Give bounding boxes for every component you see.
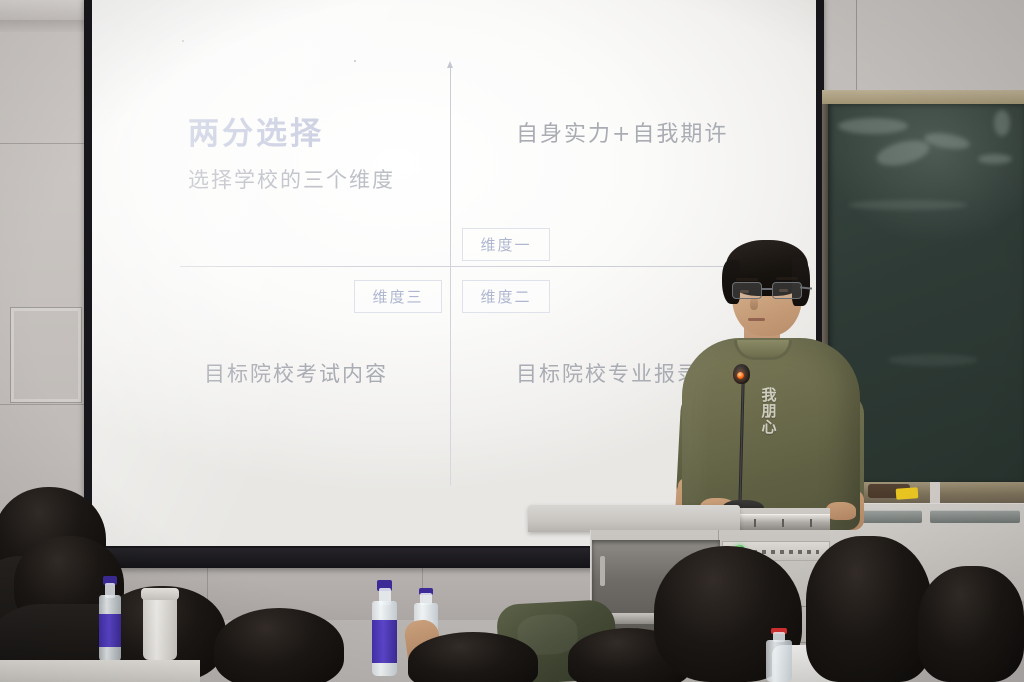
student-long-hair xyxy=(806,536,932,682)
slide-quadrant-bottom-left-text: 目标院校考试内容 xyxy=(204,358,388,388)
presenter-right-hand xyxy=(826,502,856,520)
white-cup xyxy=(143,588,177,660)
presenter-nose xyxy=(750,298,758,310)
slide-speck xyxy=(354,60,356,62)
wall-access-panel xyxy=(10,307,82,403)
lectern-top-surface xyxy=(528,505,740,532)
eyeglasses-lens xyxy=(772,282,802,299)
cup-lid xyxy=(141,588,179,600)
wall-seam xyxy=(856,0,857,100)
chalk-smudge xyxy=(994,110,1010,136)
bottle-label xyxy=(99,614,121,647)
water-bottle xyxy=(372,580,397,676)
slide-dimension-box-two: 维度二 xyxy=(462,280,550,313)
chalk-smudge xyxy=(848,200,968,210)
slide-speck xyxy=(182,40,184,42)
water-bottle xyxy=(766,628,792,682)
chalk-tray-gap xyxy=(930,482,940,504)
eyeglasses-lens xyxy=(732,282,762,299)
classroom-photo-scene: 两分选择 选择学校的三个维度 自身实力+自我期许 目标院校考试内容 目标院校专业… xyxy=(0,0,1024,682)
slide-quadrant-top-right-text: 自身实力+自我期许 xyxy=(516,116,728,148)
rack-tick xyxy=(782,519,784,527)
presenter-shirt-text: 我朋心 xyxy=(754,388,784,436)
chalk-smudge xyxy=(923,130,971,151)
slide-subtitle: 选择学校的三个维度 xyxy=(188,164,395,194)
yellow-chalk-item xyxy=(896,487,919,500)
student-head xyxy=(918,566,1024,682)
rack-tick xyxy=(810,519,812,527)
left-wall xyxy=(0,0,92,560)
presenter-mouth xyxy=(748,318,765,321)
rack-tick xyxy=(754,519,756,527)
eyeglasses-icon xyxy=(732,282,806,300)
slide-dimension-box-three: 维度三 xyxy=(354,280,442,313)
cabinet-handle[interactable] xyxy=(930,510,1020,523)
chalk-smudge xyxy=(978,154,1012,164)
student-head xyxy=(408,632,538,682)
wall-seam xyxy=(0,143,92,144)
presenter-eyebrow xyxy=(776,277,798,280)
desk-surface xyxy=(0,660,200,682)
chalk-smudge xyxy=(874,136,932,170)
slide-vertical-axis xyxy=(450,66,451,486)
slide-title: 两分选择 xyxy=(188,108,324,153)
chalk-smudge xyxy=(838,118,908,134)
slide-dimension-box-one: 维度一 xyxy=(462,228,550,261)
chalk-smudge xyxy=(888,354,978,366)
slide-horizontal-axis xyxy=(180,266,733,267)
presenter-eyebrow xyxy=(736,278,758,281)
lectern-inner-handle[interactable] xyxy=(600,556,605,586)
bottle-label xyxy=(372,620,397,662)
water-bottle xyxy=(99,576,121,662)
eyeglasses-bridge xyxy=(762,288,772,290)
wall-seam xyxy=(0,404,92,405)
bottle-body xyxy=(766,640,792,682)
presenter: 我朋心 xyxy=(676,240,866,530)
microphone-indicator-light xyxy=(737,372,744,379)
student-head xyxy=(214,608,344,682)
